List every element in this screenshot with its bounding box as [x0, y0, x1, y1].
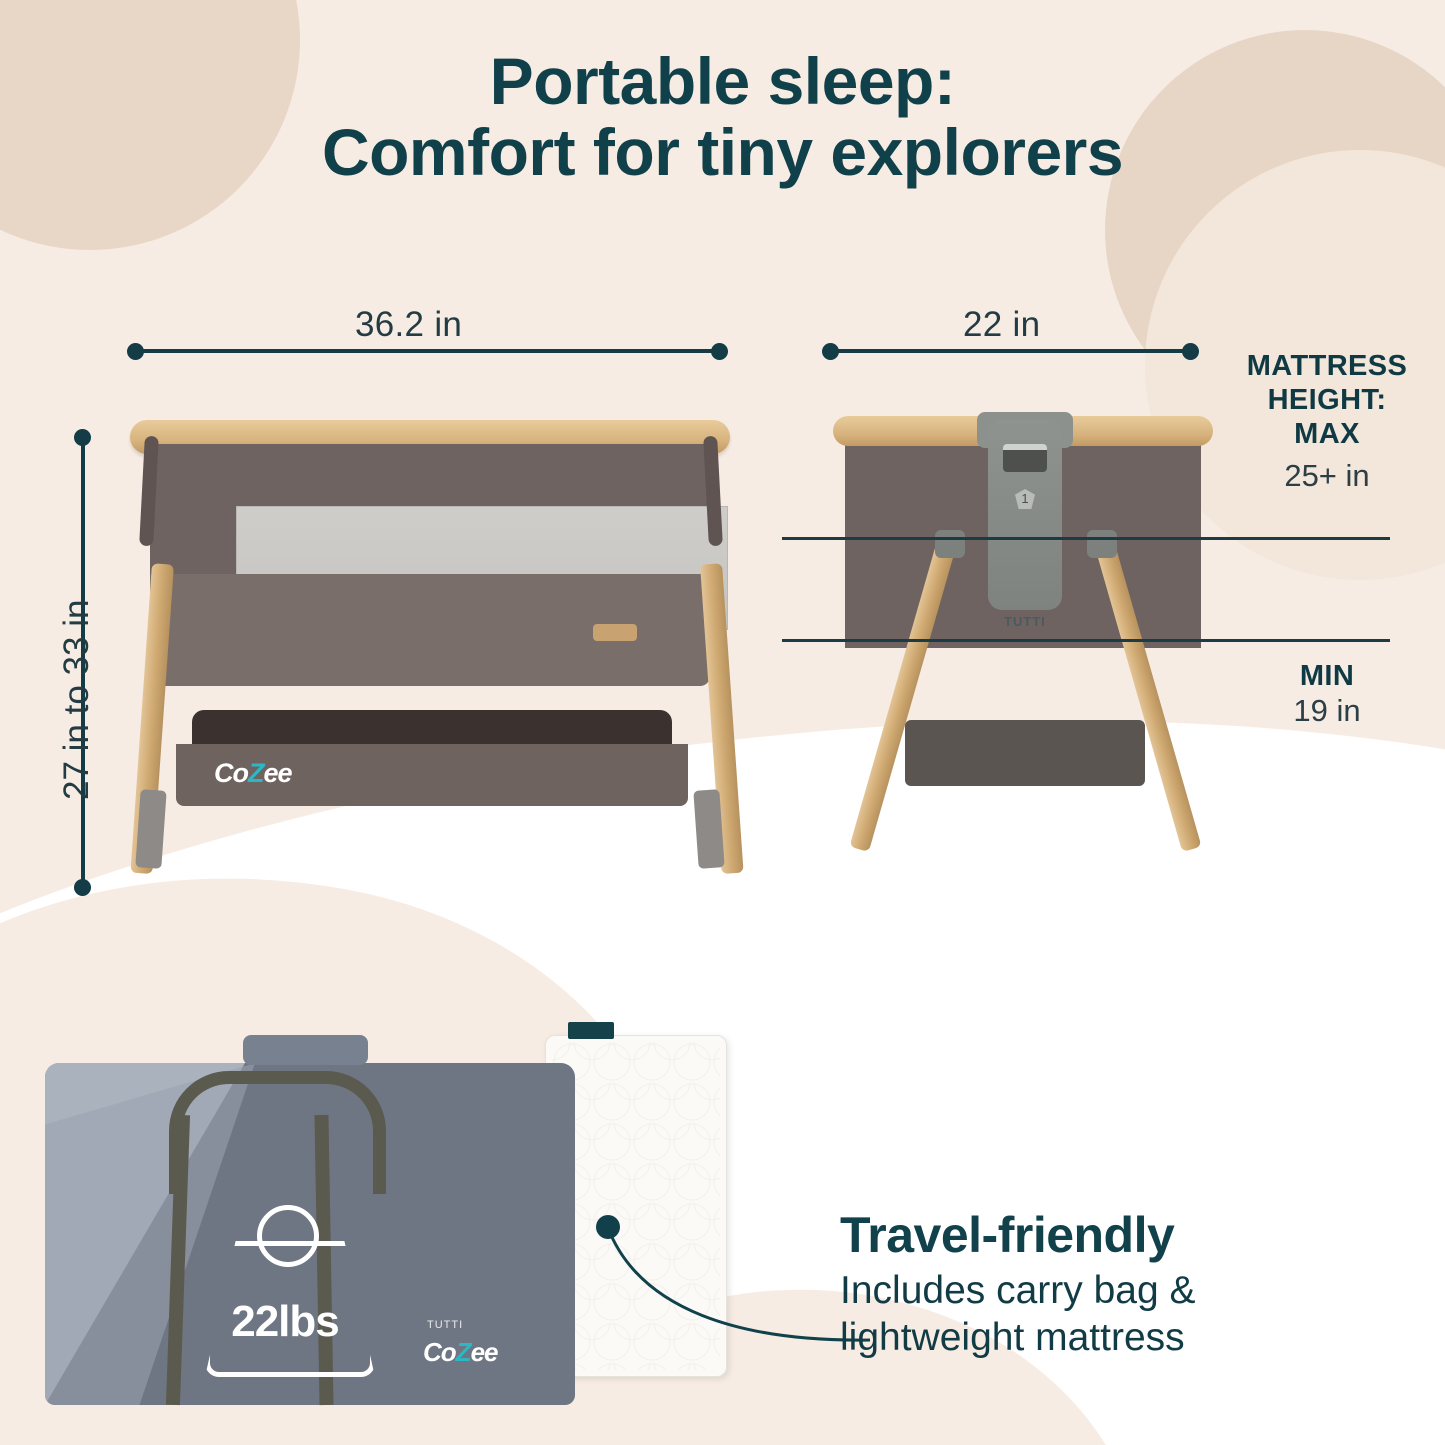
mattress-height-min-value: 19 in	[1212, 693, 1442, 729]
cozee-text-2: ee	[264, 758, 292, 788]
mattress-height-title-line2: HEIGHT:	[1268, 384, 1387, 416]
height-dimension-dot-top	[74, 429, 91, 446]
width-dimension-label: 36.2 in	[355, 305, 462, 345]
bag-cozee-text-1: Co	[423, 1337, 456, 1367]
infographic-canvas: Portable sleep: Comfort for tiny explore…	[0, 0, 1445, 1445]
mattress-height-title-line1: MATTRESS	[1247, 350, 1408, 382]
depth-dimension-line	[830, 349, 1190, 353]
bag-cozee-accent-letter: Z	[456, 1337, 471, 1367]
crib-foot-right	[693, 789, 724, 869]
depth-dimension-dot-right	[1182, 343, 1199, 360]
crib-foot-left	[135, 789, 166, 869]
travel-friendly-subtitle: Includes carry bag & lightweight mattres…	[840, 1268, 1340, 1362]
carry-bag-tutti-mark: TUTTI	[427, 1319, 463, 1331]
carry-bag-handle-grip	[243, 1035, 368, 1065]
width-dimension-dot-right	[711, 343, 728, 360]
mechanism-handle-slot	[1003, 444, 1047, 472]
mattress-height-min-title: MIN	[1212, 660, 1442, 694]
crib-end-view: 1 TUTTI	[825, 392, 1225, 902]
mattress-height-title-line3: MAX	[1294, 418, 1360, 450]
crib-end-joint-right	[1087, 530, 1117, 558]
cozee-accent-letter: Z	[248, 758, 264, 788]
title-line-1: Portable sleep:	[490, 44, 956, 118]
travel-subtitle-line1: Includes carry bag &	[840, 1269, 1196, 1312]
cozee-text-1: Co	[214, 758, 248, 788]
depth-dimension-dot-left	[822, 343, 839, 360]
cozee-logo-bag: CoZee	[423, 1337, 497, 1368]
height-dimension-label: 27 in to 33 in	[57, 600, 97, 800]
weight-icon: 22lbs	[205, 1205, 365, 1367]
height-dimension-dot-bottom	[74, 879, 91, 896]
callout-connector-line	[560, 1190, 880, 1380]
width-dimension-dot-left	[127, 343, 144, 360]
bag-cozee-text-2: ee	[471, 1337, 498, 1367]
page-title: Portable sleep: Comfort for tiny explore…	[0, 46, 1445, 189]
crib-leather-label	[593, 624, 637, 641]
mattress-min-reference-line	[782, 639, 1390, 642]
width-dimension-line	[135, 349, 725, 353]
title-line-2: Comfort for tiny explorers	[0, 117, 1445, 188]
crib-end-storage-shelf	[905, 720, 1145, 786]
crib-front-view: CoZee	[96, 392, 776, 902]
crib-end-joint-left	[935, 530, 965, 558]
depth-dimension-label: 22 in	[963, 305, 1040, 345]
cozee-logo-crib: CoZee	[214, 758, 292, 789]
travel-friendly-title: Travel-friendly	[840, 1206, 1310, 1264]
mattress-max-reference-line	[782, 537, 1390, 540]
mattress-height-max-value: 25+ in	[1212, 458, 1442, 494]
tutti-brand-mark: TUTTI	[997, 614, 1053, 629]
carry-bag: 22lbs TUTTI CoZee	[45, 1035, 575, 1405]
travel-subtitle-line2: lightweight mattress	[840, 1316, 1185, 1359]
mattress-height-title: MATTRESS HEIGHT: MAX	[1212, 350, 1442, 452]
weight-value-label: 22lbs	[205, 1297, 365, 1347]
